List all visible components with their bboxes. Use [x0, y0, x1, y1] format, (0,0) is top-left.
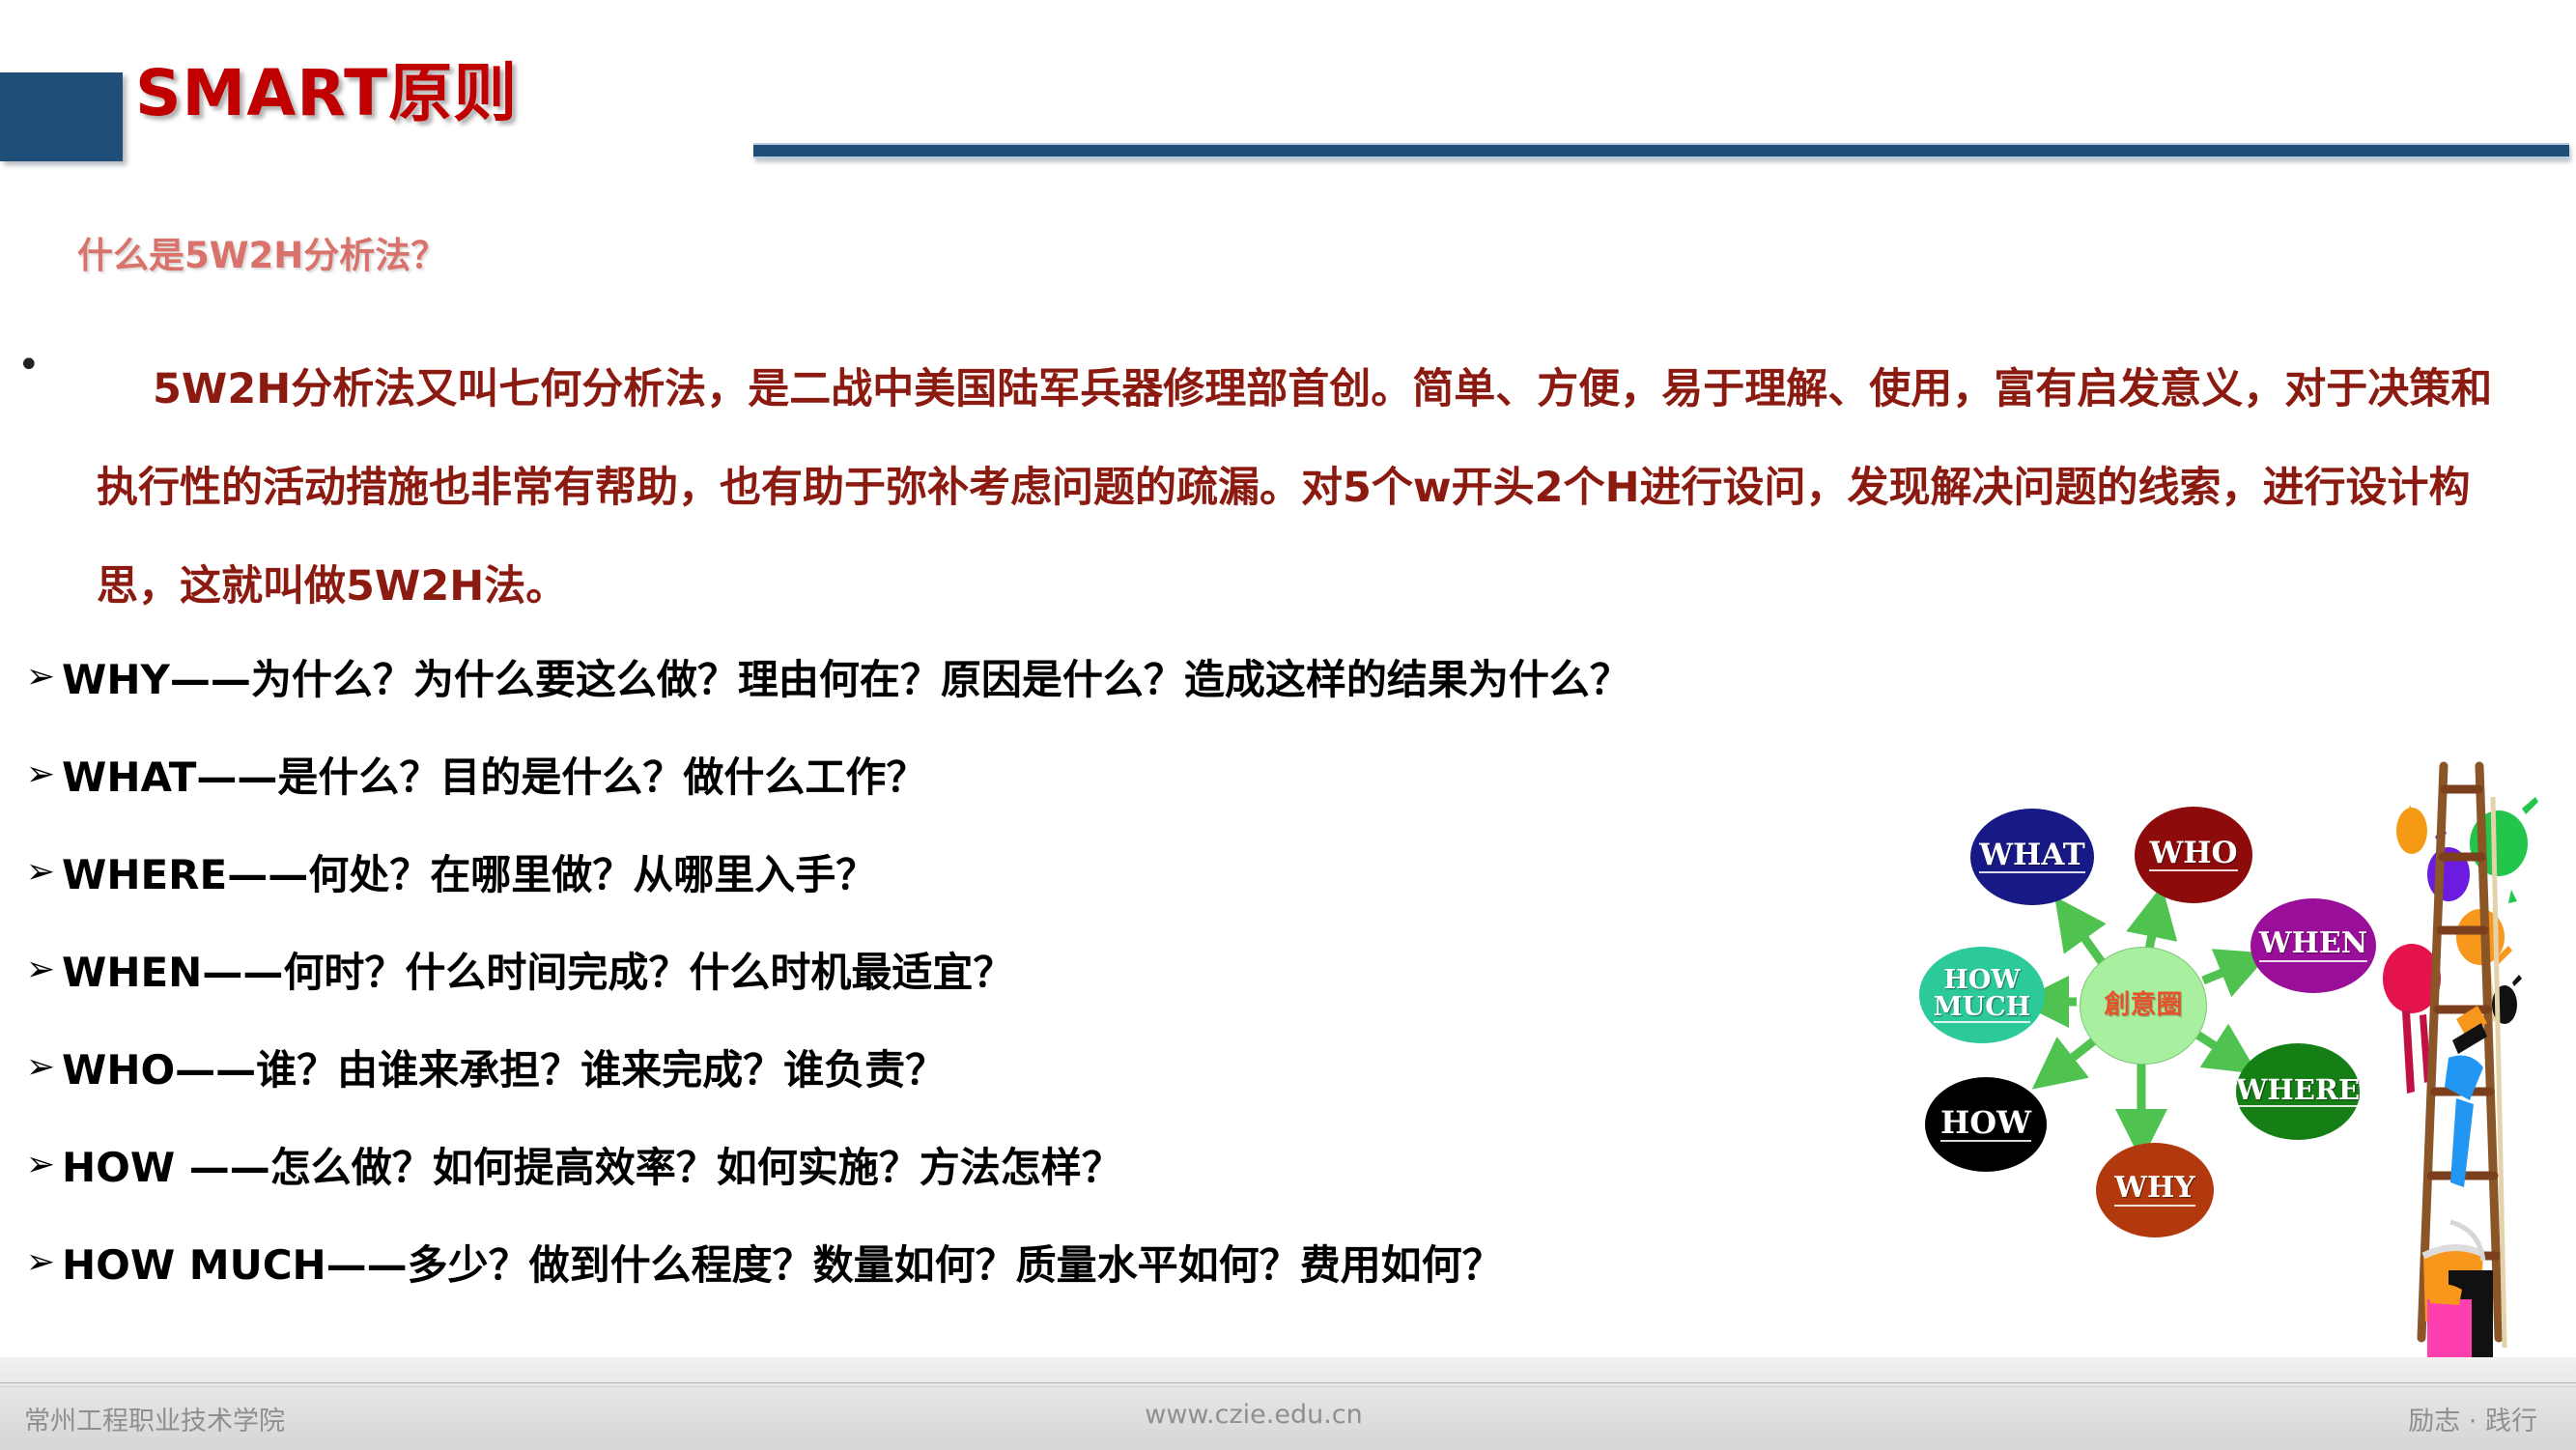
paragraph-bullet-marker: •	[17, 346, 41, 384]
intro-paragraph: 5W2H分析法又叫七何分析法，是二战中美国陆军兵器修理部首创。简单、方便，易于理…	[97, 340, 2531, 636]
title-accent-square	[0, 72, 123, 161]
mindmap-node-how-label: HOW	[1940, 1107, 2031, 1142]
list-item-label: WHERE——何处？在哪里做？从哪里入手？	[62, 842, 876, 901]
footer-motto: 励志 · 践行	[2408, 1400, 2537, 1437]
mindmap-node-where: WHERE	[2236, 1043, 2360, 1140]
mindmap-center-label: 創意圈	[2105, 992, 2183, 1020]
mindmap-node-how-much: HOW MUCH	[1919, 947, 2045, 1043]
list-item-label: WHEN——何时？什么时间完成？什么时机最适宜？	[62, 940, 1013, 999]
list-item-label: HOW ——怎么做？如何提高效率？如何实施？方法怎样？	[62, 1135, 1122, 1194]
title-divider-rule	[753, 143, 2569, 158]
list-item: ➢ WHY——为什么？为什么要这么做？理由何在？原因是什么？造成这样的结果为什么…	[0, 628, 2473, 725]
arrow-bullet-icon: ➢	[0, 1148, 62, 1182]
mindmap-node-where-label: WHERE	[2236, 1076, 2360, 1108]
footer-divider	[0, 1382, 2576, 1387]
mindmap-node-center: 創意圈	[2080, 947, 2207, 1065]
footer-website-url[interactable]: www.czie.edu.cn	[1145, 1400, 1362, 1430]
mindmap-node-what: WHAT	[1970, 809, 2094, 905]
5w2h-mindmap-image: HOW MUCH WHAT WHO WHEN WHERE WHY HOW 創意圈	[1917, 749, 2420, 1261]
title-band: SMART原则	[0, 0, 2576, 193]
arrow-bullet-icon: ➢	[0, 660, 62, 695]
page-title: SMART原则	[135, 62, 518, 126]
footer-bar: 常州工程职业技术学院 www.czie.edu.cn 励志 · 践行	[0, 1357, 2576, 1450]
mindmap-node-why: WHY	[2096, 1143, 2214, 1237]
mindmap-node-why-label: WHY	[2114, 1174, 2194, 1207]
arrow-bullet-icon: ➢	[0, 1245, 62, 1280]
list-item-label: HOW MUCH——多少？做到什么程度？数量如何？质量水平如何？费用如何？	[62, 1233, 1503, 1292]
list-item-label: WHY——为什么？为什么要这么做？理由何在？原因是什么？造成这样的结果为什么？	[62, 647, 1630, 706]
mindmap-node-who-label: WHO	[2149, 839, 2237, 872]
section-subtitle: 什么是5W2H分析法？	[77, 226, 446, 278]
arrow-bullet-icon: ➢	[0, 952, 62, 987]
mindmap-node-how-much-label: HOW MUCH	[1934, 967, 2030, 1023]
arrow-bullet-icon: ➢	[0, 1050, 62, 1085]
paint-ladder-decoration-image	[2352, 729, 2576, 1367]
mindmap-node-how: HOW	[1925, 1077, 2047, 1172]
paint-ladder-icon	[2352, 729, 2576, 1367]
mindmap-node-what-label: WHAT	[1979, 840, 2085, 874]
list-item-label: WHO——谁？由谁来承担？谁来完成？谁负责？	[62, 1038, 946, 1096]
arrow-bullet-icon: ➢	[0, 757, 62, 792]
mindmap-node-who: WHO	[2135, 807, 2252, 903]
list-item-label: WHAT——是什么？目的是什么？做什么工作？	[62, 745, 926, 804]
footer-institution-name: 常州工程职业技术学院	[24, 1400, 285, 1437]
arrow-bullet-icon: ➢	[0, 855, 62, 890]
